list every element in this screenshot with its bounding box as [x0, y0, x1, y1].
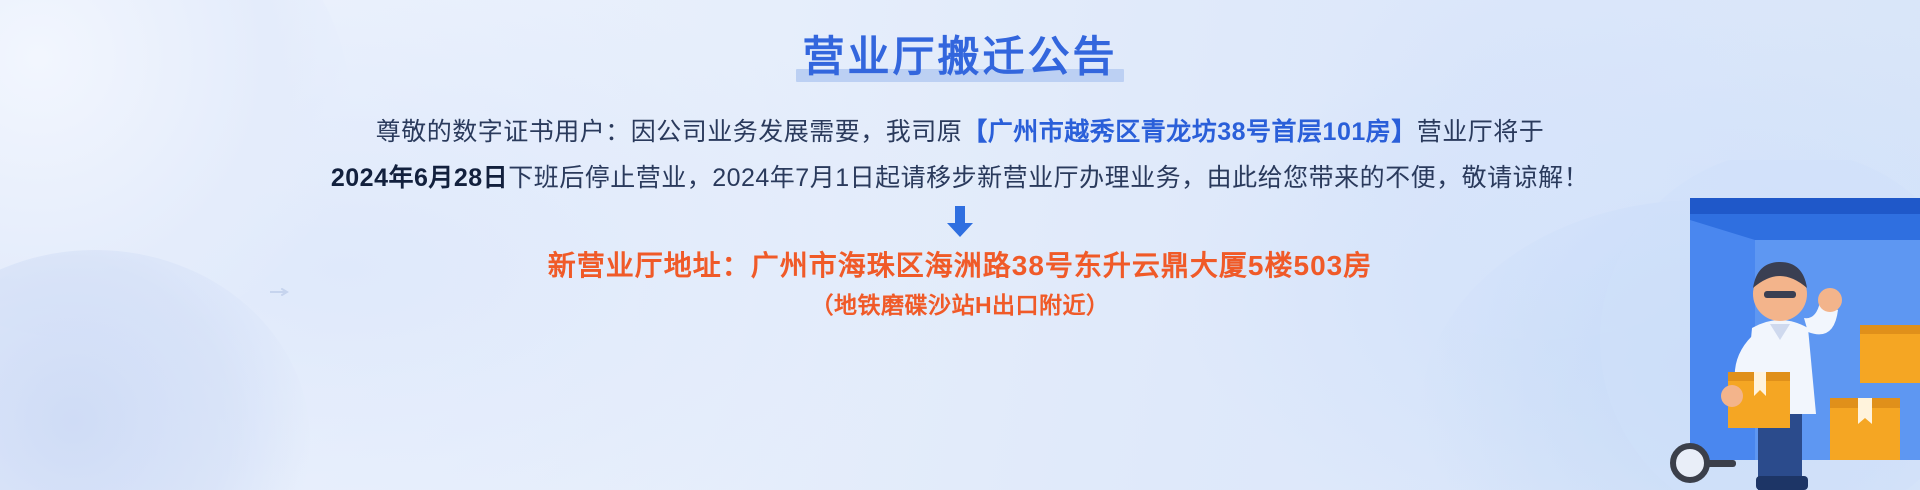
announcement-line-1-prefix: 尊敬的数字证书用户：因公司业务发展需要，我司原: [376, 118, 963, 146]
announcement-line-2-suffix: 下班后停止营业，2024年7月1日起请移步新营业厅办理业务，由此给您带来的不便，…: [508, 164, 1589, 192]
page-title-text: 营业厅搬迁公告: [802, 33, 1117, 80]
old-address-highlight: 【广州市越秀区青龙坊38号首层101房】: [962, 118, 1417, 146]
relocation-announcement-banner: 营业厅搬迁公告 尊敬的数字证书用户：因公司业务发展需要，我司原【广州市越秀区青龙…: [0, 0, 1920, 490]
arrow-container: [0, 204, 1920, 244]
closing-date: 2024年6月28日: [331, 164, 508, 192]
title-container: 营业厅搬迁公告: [0, 30, 1920, 86]
banner-content: 营业厅搬迁公告 尊敬的数字证书用户：因公司业务发展需要，我司原【广州市越秀区青龙…: [0, 30, 1920, 322]
announcement-line-1: 尊敬的数字证书用户：因公司业务发展需要，我司原【广州市越秀区青龙坊38号首层10…: [0, 110, 1920, 154]
page-title: 营业厅搬迁公告: [802, 30, 1117, 84]
announcement-line-1-suffix: 营业厅将于: [1417, 118, 1545, 146]
arrow-down-icon: [942, 204, 978, 240]
small-pointer-icon: [270, 288, 292, 296]
new-address-line: 新营业厅地址：广州市海珠区海洲路38号东升云鼎大厦5楼503房: [0, 246, 1920, 286]
announcement-line-2: 2024年6月28日下班后停止营业，2024年7月1日起请移步新营业厅办理业务，…: [0, 156, 1920, 200]
